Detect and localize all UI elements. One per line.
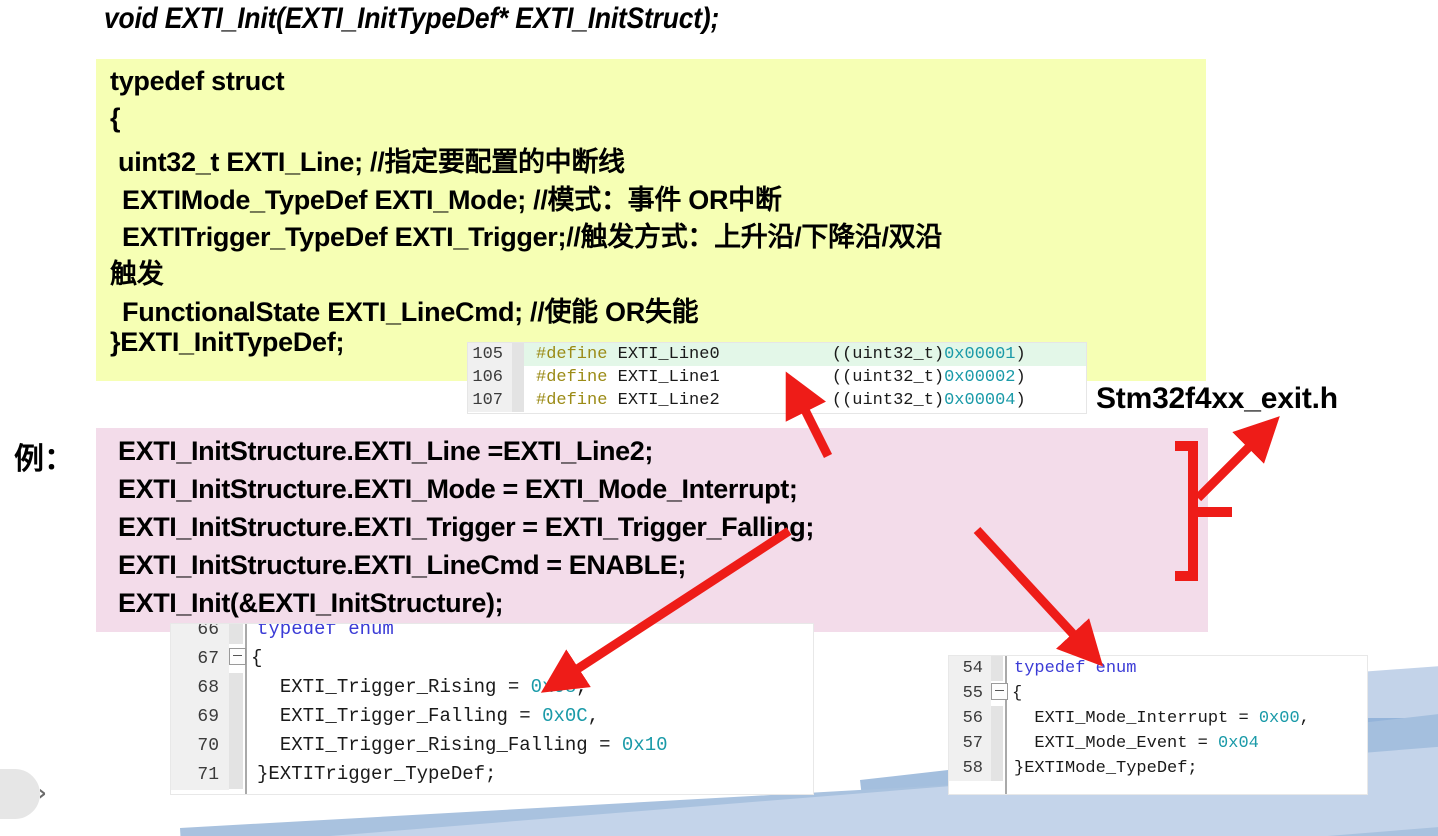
code-row: 67{: [171, 644, 813, 673]
example-line: EXTI_InitStructure.EXTI_Trigger = EXTI_T…: [118, 512, 814, 543]
cast-text: ((uint32_t): [832, 345, 944, 364]
enum-member-name: EXTI_Trigger_Rising_Falling: [280, 734, 588, 756]
line-number: 106: [468, 366, 512, 389]
macro-name: EXTI_Line2: [618, 391, 720, 410]
keyword-typedef-enum: typedef enum: [257, 623, 394, 640]
close-paren: ): [1016, 368, 1026, 387]
code-text: EXTI_Trigger_Rising_Falling = 0x10: [243, 731, 668, 760]
code-text: typedef enum: [1003, 656, 1136, 681]
comma: ,: [576, 676, 587, 698]
mode-enum-code-block: 54typedef enum 55{ 56 EXTI_Mode_Interrup…: [948, 655, 1368, 795]
fold-toggle-icon[interactable]: [229, 648, 246, 665]
code-text: EXTI_Trigger_Rising = 0x08,: [243, 673, 588, 702]
example-code-box: EXTI_InitStructure.EXTI_Line =EXTI_Line2…: [96, 428, 1208, 632]
code-row: 54typedef enum: [949, 656, 1367, 681]
line-number: 66: [171, 623, 229, 645]
enum-value: 0x0C: [542, 705, 588, 727]
assign-op: =: [588, 734, 622, 756]
cast-text: ((uint32_t): [832, 368, 944, 387]
example-line: EXTI_Init(&EXTI_InitStructure);: [118, 588, 503, 619]
enum-value: 0x04: [1218, 734, 1259, 753]
gutter-bar: [229, 731, 243, 760]
fold-toggle-icon[interactable]: [991, 683, 1008, 700]
gutter-bar: [512, 389, 524, 412]
header-file-label: Stm32f4xx_exit.h: [1096, 382, 1338, 416]
enum-member-name: EXTI_Mode_Event: [1034, 734, 1187, 753]
assign-op: =: [1228, 709, 1259, 728]
code-row: 68 EXTI_Trigger_Rising = 0x08,: [171, 673, 813, 702]
slide-canvas: void EXTI_Init(EXTI_InitTypeDef* EXTI_In…: [0, 0, 1438, 836]
gutter-bar: [512, 366, 524, 389]
comma: ,: [1300, 709, 1310, 728]
example-label: 例：: [14, 434, 74, 478]
enum-typedef-name: }EXTIMode_TypeDef;: [1014, 759, 1198, 778]
line-number: 71: [171, 761, 229, 790]
assign-op: =: [496, 676, 530, 698]
code-text: {: [1010, 681, 1022, 706]
struct-line: FunctionalState EXTI_LineCmd; //使能 OR失能: [122, 290, 698, 329]
line-number: 58: [949, 756, 991, 781]
code-text: #define EXTI_Line1 ((uint32_t)0x00002): [524, 366, 1026, 389]
code-row: 107#define EXTI_Line2 ((uint32_t)0x00004…: [468, 389, 1086, 412]
enum-member-name: EXTI_Trigger_Rising: [280, 676, 497, 698]
gutter-bar: [229, 702, 243, 731]
struct-line: }EXTI_InitTypeDef;: [110, 327, 344, 358]
code-row: 56 EXTI_Mode_Interrupt = 0x00,: [949, 706, 1367, 731]
code-text: }EXTIMode_TypeDef;: [1003, 756, 1198, 781]
code-row: 57 EXTI_Mode_Event = 0x04: [949, 731, 1367, 756]
macro-value: 0x00002: [944, 368, 1015, 387]
define-code-block: 105#define EXTI_Line0 ((uint32_t)0x00001…: [467, 342, 1087, 414]
line-number: 70: [171, 732, 229, 761]
struct-line: EXTIMode_TypeDef EXTI_Mode; //模式：事件 OR中断: [122, 178, 782, 217]
macro-name: EXTI_Line1: [618, 368, 720, 387]
code-text: EXTI_Mode_Interrupt = 0x00,: [1003, 706, 1310, 731]
code-row: 71}EXTITrigger_TypeDef;: [171, 760, 813, 789]
cast-text: ((uint32_t): [832, 391, 944, 410]
gutter-bar: [991, 656, 1003, 681]
gutter-bar: [991, 706, 1003, 731]
code-row: 55{: [949, 681, 1367, 706]
enum-typedef-name: }EXTITrigger_TypeDef;: [257, 763, 496, 785]
code-text: {: [248, 644, 262, 673]
code-text: typedef enum: [243, 623, 394, 644]
code-text: #define EXTI_Line2 ((uint32_t)0x00004): [524, 389, 1026, 412]
code-text: }EXTITrigger_TypeDef;: [243, 760, 496, 789]
struct-line: 触发: [110, 252, 163, 291]
code-text: EXTI_Trigger_Falling = 0x0C,: [243, 702, 599, 731]
define-keyword: #define: [536, 368, 607, 387]
line-number: 56: [949, 706, 991, 731]
code-row: 58}EXTIMode_TypeDef;: [949, 756, 1367, 781]
struct-definition-box: typedef struct { uint32_t EXTI_Line; //指…: [96, 59, 1206, 381]
line-number: 55: [949, 681, 991, 706]
line-number: 69: [171, 703, 229, 732]
gutter-bar: [229, 623, 243, 644]
gutter-bar: [512, 343, 524, 366]
nav-next-button[interactable]: [0, 769, 40, 819]
macro-value: 0x00004: [944, 391, 1015, 410]
assign-op: =: [1187, 734, 1218, 753]
line-number: 68: [171, 674, 229, 703]
open-brace: {: [1012, 684, 1022, 703]
code-text: EXTI_Mode_Event = 0x04: [1003, 731, 1259, 756]
code-row: 106#define EXTI_Line1 ((uint32_t)0x00002…: [468, 366, 1086, 389]
struct-line: {: [110, 103, 120, 134]
example-line: EXTI_InitStructure.EXTI_Mode = EXTI_Mode…: [118, 474, 797, 505]
assign-op: =: [508, 705, 542, 727]
enum-value: 0x00: [1259, 709, 1300, 728]
struct-line: uint32_t EXTI_Line; //指定要配置的中断线: [118, 140, 625, 179]
enum-member-name: EXTI_Mode_Interrupt: [1034, 709, 1228, 728]
macro-value: 0x00001: [944, 345, 1015, 364]
enum-value: 0x10: [622, 734, 668, 756]
enum-member-name: EXTI_Trigger_Falling: [280, 705, 508, 727]
open-brace: {: [251, 647, 262, 669]
gutter-bar: [991, 756, 1003, 781]
code-row: 66typedef enum: [171, 623, 813, 644]
keyword-typedef-enum: typedef enum: [1014, 659, 1136, 678]
define-keyword: #define: [536, 391, 607, 410]
chevron-right-icon[interactable]: ›: [38, 783, 47, 804]
example-line: EXTI_InitStructure.EXTI_Line =EXTI_Line2…: [118, 436, 653, 467]
gutter-bar: [229, 760, 243, 789]
code-row: 105#define EXTI_Line0 ((uint32_t)0x00001…: [468, 343, 1086, 366]
struct-line: EXTITrigger_TypeDef EXTI_Trigger;//触发方式：…: [122, 215, 942, 254]
macro-name: EXTI_Line0: [618, 345, 720, 364]
close-paren: ): [1016, 391, 1026, 410]
code-row: 69 EXTI_Trigger_Falling = 0x0C,: [171, 702, 813, 731]
close-paren: ): [1016, 345, 1026, 364]
define-keyword: #define: [536, 345, 607, 364]
comma: ,: [588, 705, 599, 727]
line-number: 57: [949, 731, 991, 756]
code-row: 70 EXTI_Trigger_Rising_Falling = 0x10: [171, 731, 813, 760]
page-title: void EXTI_Init(EXTI_InitTypeDef* EXTI_In…: [104, 2, 719, 36]
code-text: #define EXTI_Line0 ((uint32_t)0x00001): [524, 343, 1026, 366]
struct-line: typedef struct: [110, 66, 284, 97]
gutter-bar: [229, 673, 243, 702]
line-number: 107: [468, 389, 512, 412]
example-line: EXTI_InitStructure.EXTI_LineCmd = ENABLE…: [118, 550, 686, 581]
line-number: 105: [468, 343, 512, 366]
gutter-bar: [991, 731, 1003, 756]
line-number: 67: [171, 645, 229, 674]
line-number: 54: [949, 656, 991, 681]
enum-value: 0x08: [531, 676, 577, 698]
trigger-enum-code-block: 66typedef enum 67{ 68 EXTI_Trigger_Risin…: [170, 623, 814, 795]
